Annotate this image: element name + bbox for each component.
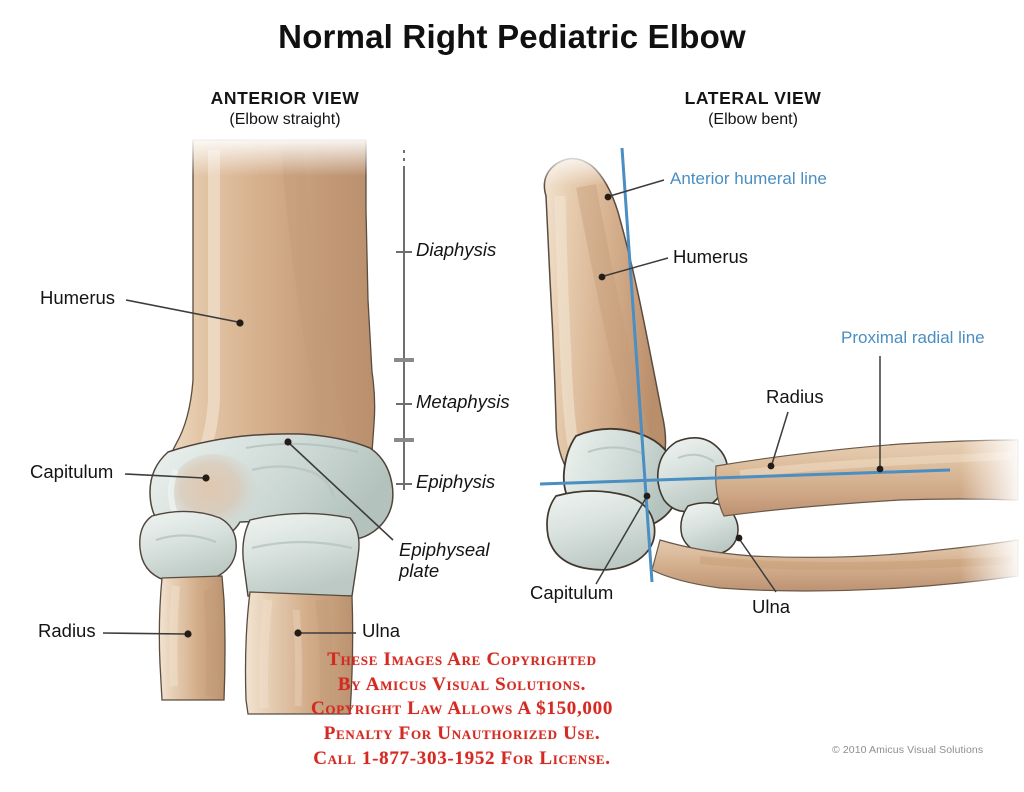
anterior-label-radius: Radius — [38, 621, 96, 642]
epiphyseal-plate-line2: plate — [399, 560, 439, 581]
anterior-label-epiphyseal-plate: Epiphyseal plate — [399, 540, 490, 581]
attribution-text: © 2010 Amicus Visual Solutions — [832, 744, 983, 756]
growth-zone-bracket — [394, 150, 414, 490]
lateral-olecranon-cartilage — [547, 491, 655, 570]
copyright-line-1: These Images Are Copyrighted — [182, 648, 742, 673]
copyright-line-5: Call 1-877-303-1952 For License. — [182, 747, 742, 772]
anterior-label-ulna: Ulna — [362, 621, 400, 642]
lateral-label-capitulum: Capitulum — [530, 583, 613, 604]
lateral-label-ulna: Ulna — [752, 597, 790, 618]
lateral-label-anterior-humeral-line: Anterior humeral line — [670, 169, 827, 188]
zone-label-diaphysis: Diaphysis — [416, 240, 496, 261]
copyright-line-4: Penalty For Unauthorized Use. — [182, 722, 742, 747]
epiphyseal-plate-line1: Epiphyseal — [399, 539, 490, 560]
illustration-page: Normal Right Pediatric Elbow ANTERIOR VI… — [0, 0, 1024, 792]
lateral-label-humerus: Humerus — [673, 247, 748, 268]
lateral-view-figure — [530, 148, 1024, 610]
lateral-label-proximal-radial-line: Proximal radial line — [841, 328, 985, 347]
lateral-label-radius: Radius — [766, 387, 824, 408]
zone-label-metaphysis: Metaphysis — [416, 392, 510, 413]
anterior-label-humerus: Humerus — [40, 288, 115, 309]
copyright-notice: These Images Are Copyrighted By Amicus V… — [182, 648, 742, 771]
anterior-radial-head-cartilage — [140, 511, 236, 583]
copyright-line-3: Copyright Law Allows A $150,000 — [182, 697, 742, 722]
anterior-label-capitulum: Capitulum — [30, 462, 113, 483]
anterior-proximal-ulna-cartilage — [243, 513, 359, 596]
copyright-line-2: By Amicus Visual Solutions. — [182, 673, 742, 698]
zone-label-epiphysis: Epiphysis — [416, 472, 495, 493]
